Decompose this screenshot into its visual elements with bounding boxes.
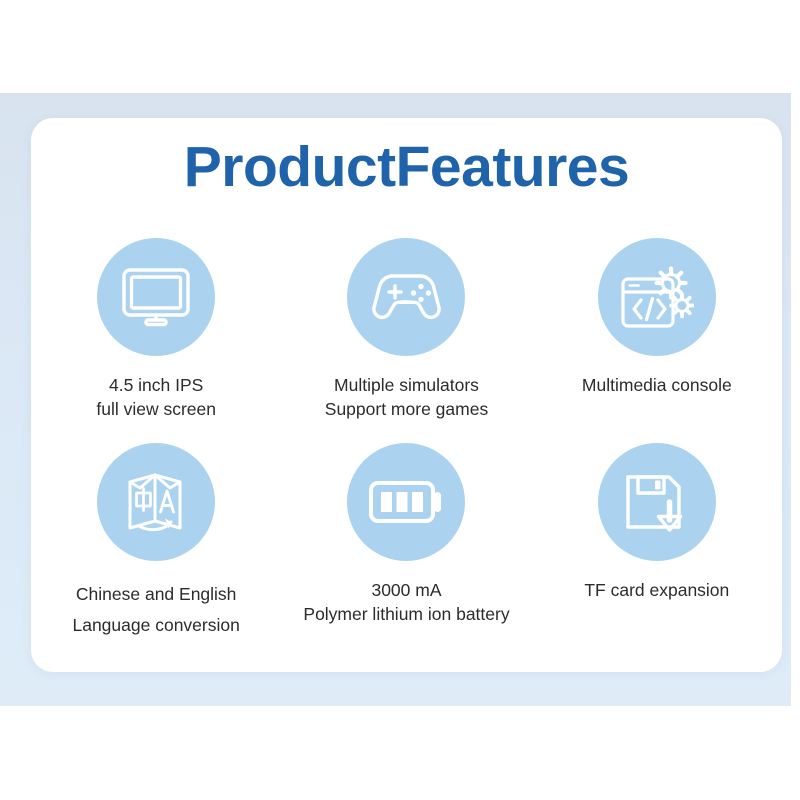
monitor-icon bbox=[97, 238, 215, 356]
feature-caption: 4.5 inch IPS full view screen bbox=[96, 374, 216, 421]
feature-caption: 3000 mA Polymer lithium ion battery bbox=[303, 579, 509, 626]
infographic-stage: ProductFeatures 4.5 inch IPS full view s… bbox=[0, 0, 800, 800]
gamepad-icon bbox=[347, 238, 465, 356]
feature-item-simulators[interactable]: Multiple simulators Support more games bbox=[281, 238, 531, 421]
code-window-gears-icon bbox=[598, 238, 716, 356]
feature-caption: Multimedia console bbox=[582, 374, 732, 398]
feature-caption: Chinese and English Language conversion bbox=[72, 579, 239, 640]
feature-item-tf-card[interactable]: TF card expansion bbox=[532, 443, 782, 640]
feature-item-multimedia[interactable]: Multimedia console bbox=[532, 238, 782, 421]
feature-row-1: 4.5 inch IPS full view screen Multiple bbox=[31, 238, 782, 421]
feature-item-battery[interactable]: 3000 mA Polymer lithium ion battery bbox=[281, 443, 531, 640]
feature-item-screen[interactable]: 4.5 inch IPS full view screen bbox=[31, 238, 281, 421]
memory-card-download-icon bbox=[598, 443, 716, 561]
battery-icon bbox=[347, 443, 465, 561]
feature-caption: TF card expansion bbox=[584, 579, 729, 603]
feature-card: ProductFeatures 4.5 inch IPS full view s… bbox=[31, 118, 782, 672]
feature-row-2: Chinese and English Language conversion … bbox=[31, 443, 782, 640]
page-title: ProductFeatures bbox=[31, 138, 782, 198]
translate-icon bbox=[97, 443, 215, 561]
feature-caption: Multiple simulators Support more games bbox=[325, 374, 488, 421]
feature-item-language[interactable]: Chinese and English Language conversion bbox=[31, 443, 281, 640]
